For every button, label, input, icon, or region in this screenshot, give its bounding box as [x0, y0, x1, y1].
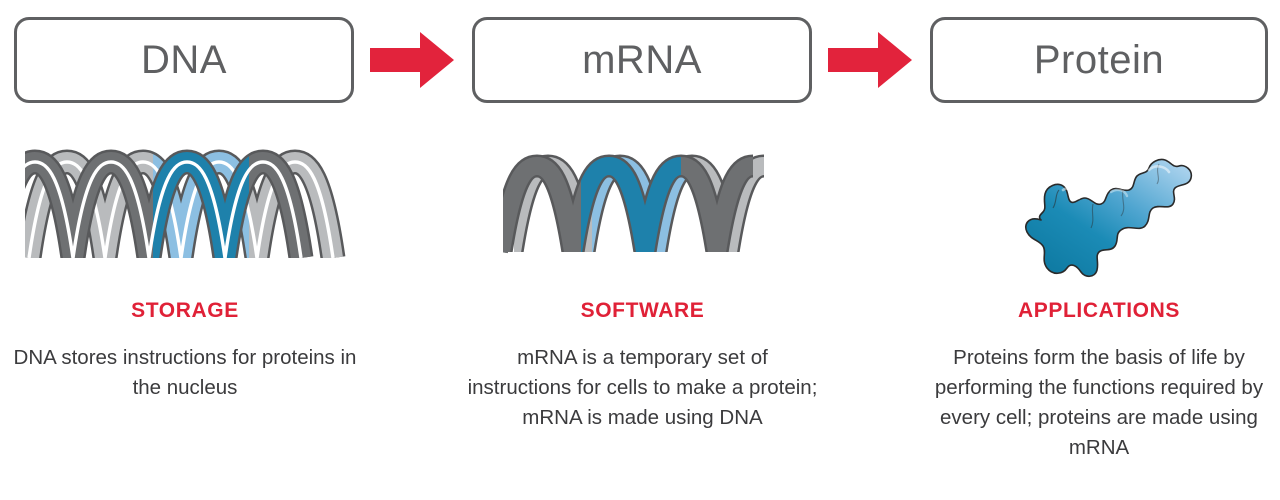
stage-box-mrna: mRNA [472, 17, 812, 103]
stage-box-label-protein: Protein [1034, 40, 1164, 80]
stage-box-protein: Protein [930, 17, 1268, 103]
illustration-row [0, 118, 1280, 298]
caption-mrna: SOFTWARE mRNA is a temporary set of inst… [465, 300, 820, 433]
arrow-dna-to-mrna [370, 32, 454, 88]
caption-heading-software: SOFTWARE [465, 300, 820, 321]
right-arrow-icon [370, 32, 454, 88]
caption-protein: APPLICATIONS Proteins form the basis of … [925, 300, 1273, 464]
illustration-cell-mrna [472, 118, 812, 298]
right-arrow-icon [828, 32, 912, 88]
caption-body-protein: Proteins form the basis of life by perfo… [925, 343, 1273, 464]
caption-dna: STORAGE DNA stores instructions for prot… [10, 300, 360, 403]
mrna-single-strand-icon [524, 156, 760, 260]
illustration-cell-protein [930, 118, 1268, 298]
central-dogma-diagram: DNA mRNA Protein [0, 0, 1280, 500]
stage-box-row: DNA mRNA Protein [0, 0, 1280, 120]
stage-box-label-mrna: mRNA [582, 40, 702, 80]
protein-blob-icon [999, 128, 1199, 288]
stage-box-label-dna: DNA [141, 40, 227, 80]
caption-heading-storage: STORAGE [10, 300, 360, 321]
caption-body-mrna: mRNA is a temporary set of instructions … [465, 343, 820, 433]
arrow-mrna-to-protein [828, 32, 912, 88]
caption-row: STORAGE DNA stores instructions for prot… [0, 300, 1280, 500]
caption-body-dna: DNA stores instructions for proteins in … [10, 343, 360, 403]
dna-double-helix-icon [45, 148, 323, 268]
stage-box-dna: DNA [14, 17, 354, 103]
caption-heading-applications: APPLICATIONS [925, 300, 1273, 321]
illustration-cell-dna [14, 118, 354, 298]
